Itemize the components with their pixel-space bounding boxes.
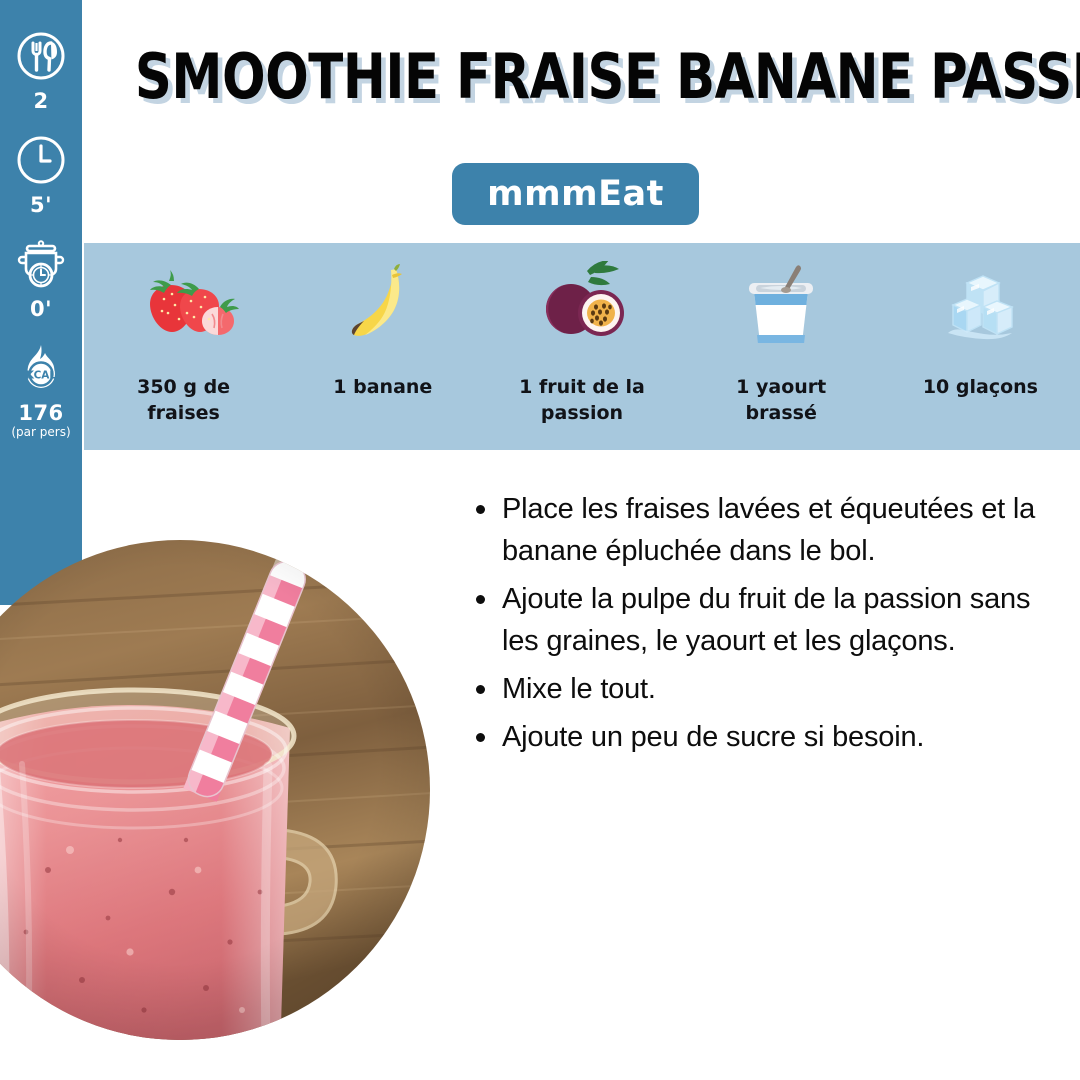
cutlery-icon [13,30,69,86]
calories-unit: (par pers) [11,426,70,438]
recipe-title: SMOOTHIE FRAISE BANANE PASSION [135,44,1029,109]
clock-icon [13,134,69,190]
ingredients-band: 350 g de fraises 1 banane [84,243,1080,450]
stat-prep-time: 5' [0,134,82,216]
ingredient-item: 1 yaourt brassé [682,243,881,450]
brand-logo: mmmEat [452,163,699,225]
servings-value: 2 [33,91,48,112]
ingredient-label: 1 fruit de la passion [507,375,657,426]
ingredient-item: 1 banane [283,243,482,450]
recipe-photo [0,540,430,1040]
calories-value: 176 [18,403,63,424]
instruction-step: Mixe le tout. [470,668,1070,710]
kcal-badge-text: KCAL [26,369,56,381]
ingredient-item: 10 glaçons [881,243,1080,450]
instruction-step: Ajoute un peu de sucre si besoin. [470,716,1070,758]
instruction-step: Place les fraises lavées et équeutées et… [470,488,1070,572]
stat-servings: 2 [0,30,82,112]
stat-calories: KCAL 176 (par pers) [0,342,82,438]
instructions-list: Place les fraises lavées et équeutées et… [470,488,1070,764]
recipe-stats-sidebar: 2 5' [0,0,82,605]
strawberries-icon [119,261,249,353]
yogurt-pot-icon [716,261,846,353]
ingredient-label: 10 glaçons [923,375,1038,401]
cooking-pot-timer-icon [13,238,69,294]
prep-time-value: 5' [30,195,52,216]
cook-time-value: 0' [30,299,52,320]
ingredient-item: 1 fruit de la passion [482,243,681,450]
passion-fruit-icon [517,261,647,353]
instruction-step: Ajoute la pulpe du fruit de la passion s… [470,578,1070,662]
ingredient-item: 350 g de fraises [84,243,283,450]
banana-icon [318,261,448,353]
ingredient-label: 1 yaourt brassé [706,375,856,426]
ice-cubes-icon [915,261,1045,353]
ingredient-label: 1 banane [333,375,432,401]
flame-kcal-icon: KCAL [13,342,69,398]
brand-logo-text: mmmEat [487,177,664,212]
stat-cook-time: 0' [0,238,82,320]
ingredient-label: 350 g de fraises [109,375,259,426]
